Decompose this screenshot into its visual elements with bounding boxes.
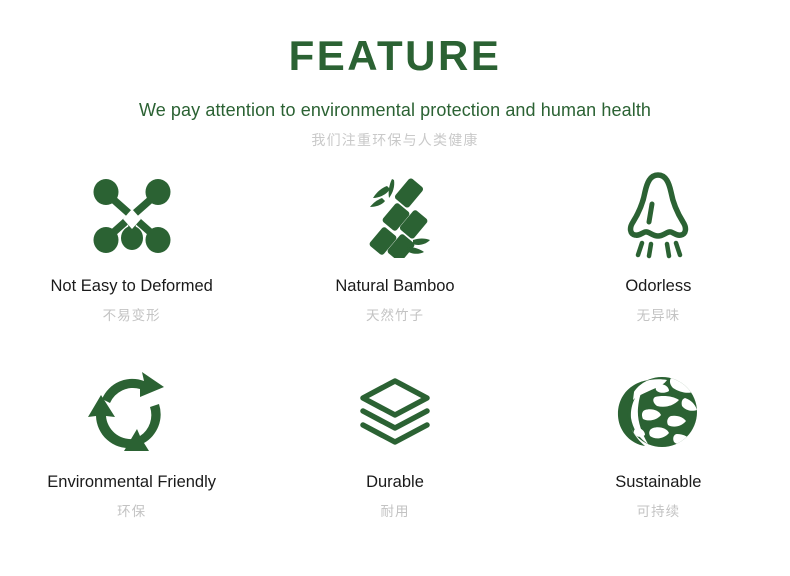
feature-item-not-easy-to-deformed: Not Easy to Deformed 不易变形	[0, 164, 263, 360]
feature-label-cn: 可持续	[637, 504, 681, 520]
feature-label-en: Not Easy to Deformed	[51, 276, 213, 297]
feature-page: FEATURE We pay attention to environmenta…	[0, 0, 790, 576]
nose-icon	[623, 168, 693, 264]
feature-label-en: Environmental Friendly	[47, 472, 216, 493]
feature-label-en: Natural Bamboo	[335, 276, 454, 297]
feature-label-en: Sustainable	[615, 472, 701, 493]
feature-label-cn: 环保	[117, 504, 146, 520]
feature-label-cn: 天然竹子	[366, 308, 424, 324]
feature-item-natural-bamboo: Natural Bamboo 天然竹子	[263, 164, 526, 360]
subtitle-chinese: 我们注重环保与人类健康	[0, 132, 790, 149]
feature-item-sustainable: Sustainable 可持续	[527, 360, 790, 556]
feature-grid: Not Easy to Deformed 不易变形	[0, 164, 790, 556]
feature-label-cn: 无异味	[637, 308, 681, 324]
feature-item-odorless: Odorless 无异味	[527, 164, 790, 360]
layers-stack-icon	[357, 364, 433, 460]
subtitle-english: We pay attention to environmental protec…	[0, 100, 790, 122]
feature-label-cn: 不易变形	[103, 308, 161, 324]
feature-label-en: Durable	[366, 472, 424, 493]
feature-item-durable: Durable 耐用	[263, 360, 526, 556]
bamboo-icon	[356, 168, 434, 264]
feature-label-cn: 耐用	[380, 504, 409, 520]
feature-item-environmental-friendly: Environmental Friendly 环保	[0, 360, 263, 556]
molecule-nodes-icon	[91, 168, 173, 264]
feature-label-en: Odorless	[625, 276, 691, 297]
page-header: FEATURE We pay attention to environmenta…	[0, 0, 790, 148]
page-title: FEATURE	[0, 34, 790, 78]
globe-leaf-icon	[615, 364, 701, 460]
recycle-icon	[88, 364, 176, 460]
